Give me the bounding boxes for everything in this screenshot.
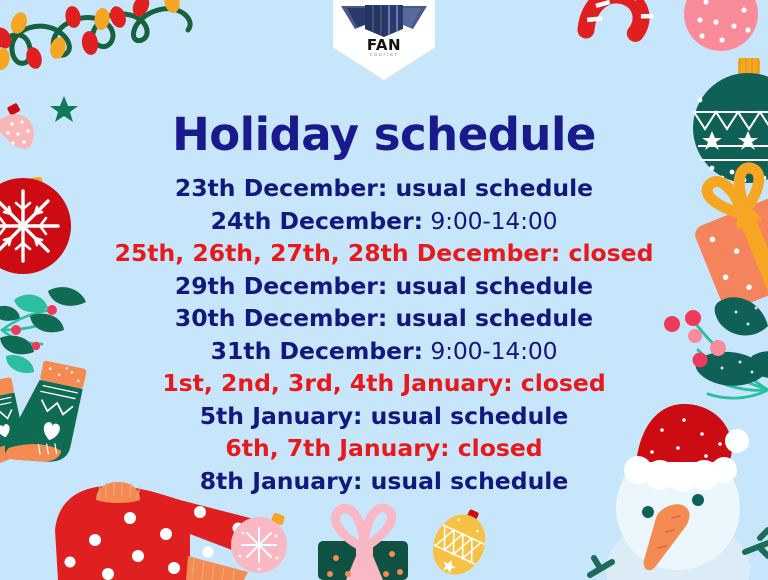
logo-brand-name: FAN bbox=[333, 38, 435, 53]
teal-patterned-ornament-icon bbox=[693, 58, 768, 183]
schedule-status-value: closed bbox=[513, 369, 606, 397]
schedule-date-label: 24th December: bbox=[211, 207, 423, 235]
schedule-status-value: 9:00-14:00 bbox=[423, 337, 557, 365]
schedule-date-label: 5th January: bbox=[200, 402, 363, 430]
schedule-status-value: closed bbox=[560, 239, 653, 267]
candy-cane-icon bbox=[584, 0, 660, 49]
schedule-date-label: 25th, 26th, 27th, 28th December: bbox=[115, 239, 561, 267]
schedule-status-value: 9:00-14:00 bbox=[423, 207, 557, 235]
green-christmas-socks-icon bbox=[0, 356, 87, 471]
schedule-status-value: closed bbox=[450, 434, 543, 462]
schedule-status-value: usual schedule bbox=[387, 304, 593, 332]
schedule-line: 23th December: usual schedule bbox=[0, 172, 768, 205]
schedule-line: 24th December: 9:00-14:00 bbox=[0, 205, 768, 238]
red-polka-dot-sweater-icon bbox=[55, 482, 258, 580]
snowman-santa-hat-icon bbox=[590, 404, 768, 580]
schedule-line: 1st, 2nd, 3rd, 4th January: closed bbox=[0, 367, 768, 400]
orange-gift-box-icon bbox=[679, 153, 768, 313]
schedule-date-label: 6th, 7th January: bbox=[225, 434, 449, 462]
schedule-date-label: 30th December: bbox=[175, 304, 387, 332]
teal-leaves-berries-icon bbox=[664, 297, 768, 398]
holly-leaves-berries-icon bbox=[0, 287, 86, 373]
pink-dotted-ornament-icon bbox=[684, 0, 758, 51]
schedule-line: 30th December: usual schedule bbox=[0, 302, 768, 335]
logo-wing-icon bbox=[341, 3, 427, 37]
schedule-status-value: usual schedule bbox=[387, 174, 593, 202]
schedule-line: 25th, 26th, 27th, 28th December: closed bbox=[0, 237, 768, 270]
schedule-date-label: 31th December: bbox=[211, 337, 423, 365]
poster-content: Holiday schedule 23th December: usual sc… bbox=[0, 0, 768, 580]
decorative-artwork bbox=[0, 0, 768, 580]
red-snowflake-ornament-icon bbox=[0, 177, 71, 274]
logo-subtitle: courier bbox=[333, 53, 435, 58]
pink-starburst-ornament-icon bbox=[231, 512, 287, 573]
christmas-lights-string-icon bbox=[0, 0, 190, 71]
schedule-date-label: 8th January: bbox=[200, 467, 363, 495]
schedule-line: 31th December: 9:00-14:00 bbox=[0, 335, 768, 368]
schedule-list: 23th December: usual schedule24th Decemb… bbox=[0, 172, 768, 497]
schedule-date-label: 23th December: bbox=[175, 174, 387, 202]
schedule-line: 6th, 7th January: closed bbox=[0, 432, 768, 465]
schedule-status-value: usual schedule bbox=[362, 467, 568, 495]
schedule-line: 5th January: usual schedule bbox=[0, 400, 768, 433]
schedule-status-value: usual schedule bbox=[362, 402, 568, 430]
green-star-icon bbox=[50, 96, 78, 122]
schedule-date-label: 1st, 2nd, 3rd, 4th January: bbox=[162, 369, 512, 397]
schedule-status-value: usual schedule bbox=[387, 272, 593, 300]
green-gift-box-pink-bow-icon bbox=[318, 508, 408, 580]
fan-courier-logo: FAN courier bbox=[333, 0, 435, 80]
page-title: Holiday schedule bbox=[0, 111, 768, 158]
schedule-date-label: 29th December: bbox=[175, 272, 387, 300]
pink-ornament-dotted-icon bbox=[0, 103, 36, 150]
schedule-line: 29th December: usual schedule bbox=[0, 270, 768, 303]
schedule-line: 8th January: usual schedule bbox=[0, 465, 768, 498]
holiday-schedule-poster: FAN courier Holiday schedule 23th Decemb… bbox=[0, 0, 768, 580]
gold-oval-ornament-icon bbox=[423, 500, 497, 580]
